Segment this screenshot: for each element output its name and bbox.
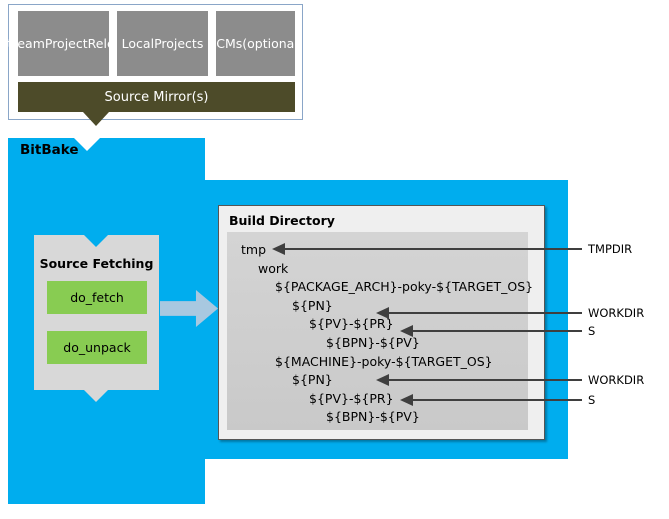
tree-node: ${PV}-${PR} bbox=[309, 391, 394, 406]
source-box-scms-optional: SCMs(optional) bbox=[216, 11, 295, 76]
variable-label-tmpdir: TMPDIR bbox=[588, 242, 632, 256]
task-do-fetch[interactable]: do_fetch bbox=[47, 281, 147, 314]
pointer-line-s-2 bbox=[412, 399, 582, 401]
variable-label-s-1: S bbox=[588, 324, 595, 338]
source-box-line: (optional) bbox=[242, 36, 302, 51]
source-mirror-bar: Source Mirror(s) bbox=[18, 82, 295, 112]
source-box-local-projects: LocalProjects bbox=[117, 11, 208, 76]
tree-node: ${PN} bbox=[292, 372, 333, 387]
variable-label-workdir-1: WORKDIR bbox=[588, 306, 644, 320]
tree-node: ${BPN}-${PV} bbox=[326, 335, 420, 350]
tree-node: ${MACHINE}-poky-${TARGET_OS} bbox=[275, 354, 493, 369]
tree-node: ${BPN}-${PV} bbox=[326, 409, 420, 424]
variable-label-s-2: S bbox=[588, 393, 595, 407]
pointer-line-tmpdir bbox=[284, 248, 582, 250]
bitbake-label: BitBake bbox=[20, 142, 79, 158]
tree-node: ${PN} bbox=[292, 298, 333, 313]
pointer-line-workdir-1 bbox=[388, 312, 582, 314]
source-box-line: Projects bbox=[154, 36, 203, 51]
tree-node: tmp bbox=[241, 242, 266, 257]
source-panel: UpstreamProjectReleases LocalProjects SC… bbox=[8, 4, 303, 120]
source-box-upstream-project-releases: UpstreamProjectReleases bbox=[18, 11, 109, 76]
tree-node: work bbox=[258, 261, 288, 276]
source-box-line: Project bbox=[45, 36, 88, 51]
tree-node: ${PACKAGE_ARCH}-poky-${TARGET_OS} bbox=[275, 279, 533, 294]
build-directory-title: Build Directory bbox=[229, 213, 335, 228]
pointer-line-workdir-2 bbox=[388, 379, 582, 381]
tree-node: ${PV}-${PR} bbox=[309, 316, 394, 331]
source-box-line: Local bbox=[122, 36, 154, 51]
chevron-down-icon-mirror-output bbox=[83, 112, 109, 126]
source-box-line: SCMs bbox=[208, 36, 242, 51]
pointer-line-s-1 bbox=[412, 330, 582, 332]
source-box-line: Upstream bbox=[0, 36, 45, 51]
variable-label-workdir-2: WORKDIR bbox=[588, 373, 644, 387]
source-fetching-title: Source Fetching bbox=[34, 256, 159, 271]
task-do-unpack[interactable]: do_unpack bbox=[47, 331, 147, 364]
